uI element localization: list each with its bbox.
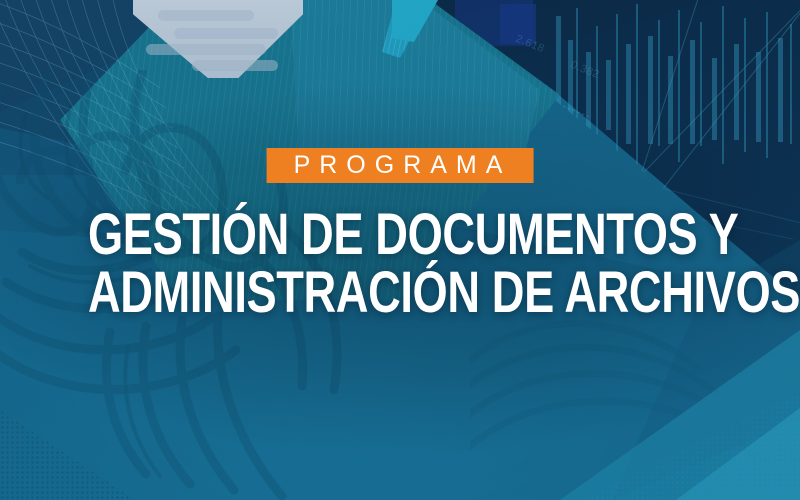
program-badge: PROGRAMA bbox=[267, 148, 534, 183]
page-title-line-1: GESTIÓN DE DOCUMENTOS Y bbox=[88, 206, 712, 264]
page-title-line-2: ADMINISTRACIÓN DE ARCHIVOS bbox=[88, 264, 712, 322]
program-banner: 2.618 1.618 0.382 2.618 1.618 1.000 bbox=[0, 0, 800, 500]
page-title: GESTIÓN DE DOCUMENTOS Y ADMINISTRACIÓN D… bbox=[0, 206, 800, 322]
banner-content: PROGRAMA GESTIÓN DE DOCUMENTOS Y ADMINIS… bbox=[0, 0, 800, 500]
